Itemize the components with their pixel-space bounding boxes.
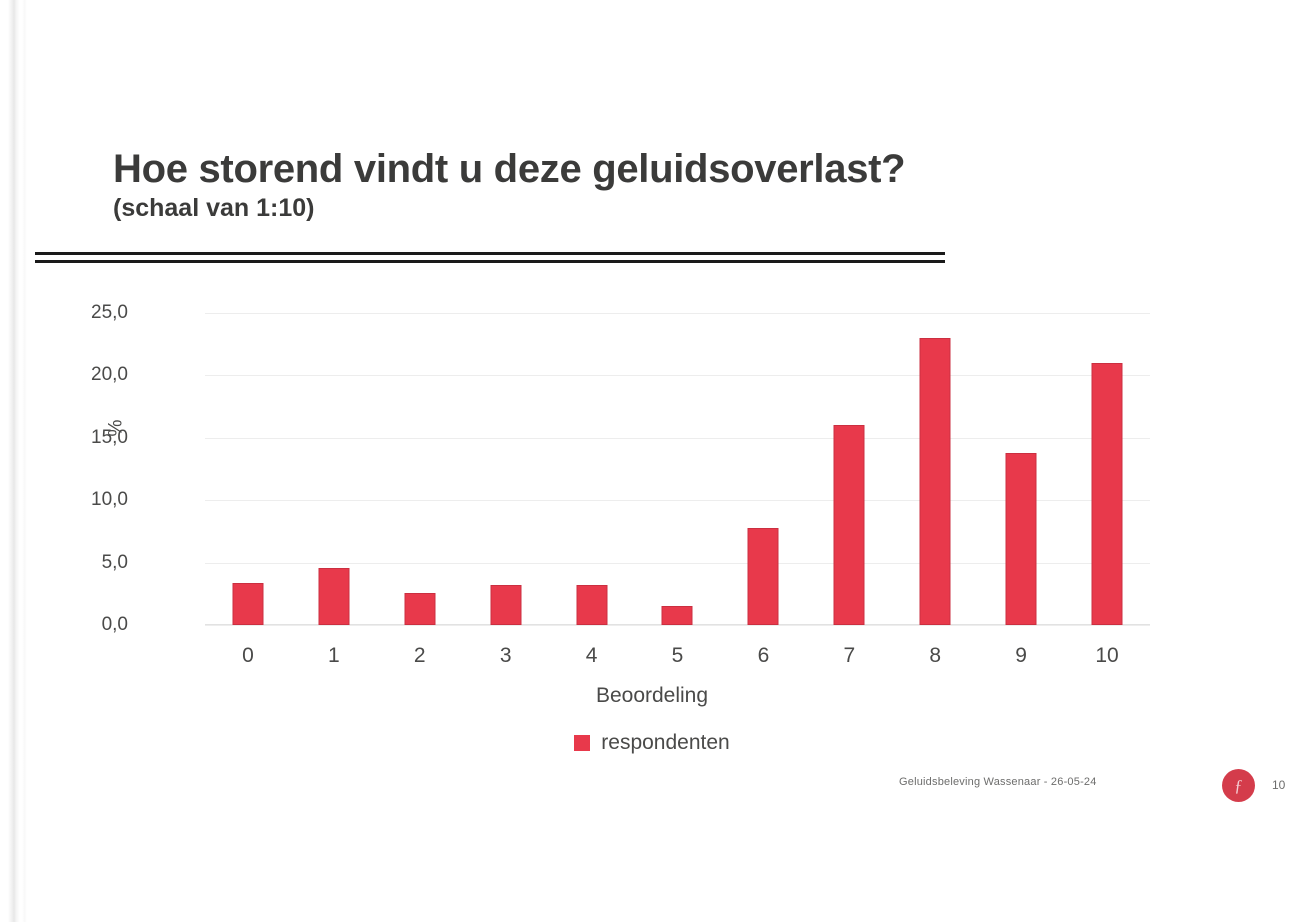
bar-group — [806, 313, 892, 625]
bar-group — [635, 313, 721, 625]
chart-legend: respondenten — [0, 731, 1304, 755]
x-axis-tick-label: 3 — [463, 644, 549, 668]
bar-group — [377, 313, 463, 625]
page-number: 10 — [1272, 778, 1285, 792]
bar-group — [892, 313, 978, 625]
x-axis-title: Beoordeling — [0, 684, 1304, 708]
legend-swatch-icon — [574, 735, 590, 751]
logo-glyph: ƒ — [1222, 769, 1255, 802]
gridline — [205, 625, 1150, 626]
y-axis-tick-label: 20,0 — [38, 364, 128, 386]
legend-entry: respondenten — [0, 731, 730, 755]
x-axis-tick-label: 0 — [205, 644, 291, 668]
x-axis-tick-label: 8 — [892, 644, 978, 668]
y-axis-tick-label: 5,0 — [38, 552, 128, 574]
x-axis-tick-label: 4 — [549, 644, 635, 668]
bar — [1092, 363, 1123, 625]
y-axis-tick-label: 25,0 — [38, 302, 128, 324]
bar — [576, 585, 607, 625]
x-axis-tick-label: 5 — [635, 644, 721, 668]
circular-red-logo-icon: ƒ — [1222, 769, 1255, 802]
bar — [662, 606, 693, 625]
x-axis-tick-label: 6 — [720, 644, 806, 668]
bar-group — [463, 313, 549, 625]
bar-series-respondenten — [205, 313, 1150, 625]
bar — [232, 583, 263, 625]
y-axis-tick-label: 15,0 — [38, 427, 128, 449]
bar — [490, 585, 521, 625]
bar-group — [978, 313, 1064, 625]
bar — [404, 593, 435, 625]
x-axis-title-text: Beoordeling — [0, 684, 708, 708]
plot-area: 0,05,010,015,020,025,0 — [205, 313, 1150, 625]
x-axis-tick-label: 7 — [806, 644, 892, 668]
x-axis-tick-label: 1 — [291, 644, 377, 668]
bar-group — [549, 313, 635, 625]
y-axis-tick-label: 10,0 — [38, 489, 128, 511]
bar-group — [205, 313, 291, 625]
x-axis-tick-label: 9 — [978, 644, 1064, 668]
bar — [1006, 453, 1037, 625]
bar-group — [1064, 313, 1150, 625]
bar — [318, 568, 349, 625]
y-axis-tick-label: 0,0 — [38, 614, 128, 636]
x-axis-tick-label: 10 — [1064, 644, 1150, 668]
bar-group — [291, 313, 377, 625]
bar-chart: % 0,05,010,015,020,025,0 012345678910 Be… — [0, 0, 1304, 922]
legend-label: respondenten — [601, 731, 729, 755]
bar-group — [720, 313, 806, 625]
bar — [834, 425, 865, 625]
bar — [748, 528, 779, 625]
footer-caption: Geluidsbeleving Wassenaar - 26-05-24 — [899, 776, 1097, 788]
x-axis-tick-label: 2 — [377, 644, 463, 668]
bar — [920, 338, 951, 625]
